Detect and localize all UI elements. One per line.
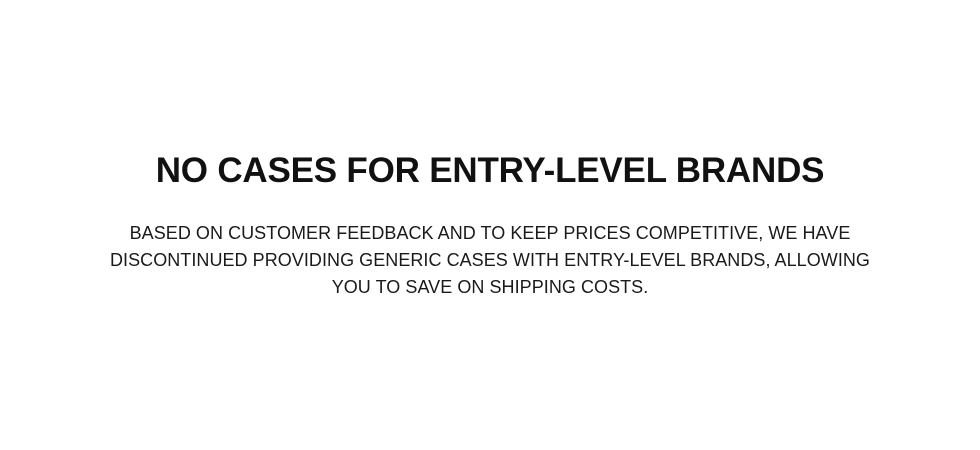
description-line: YOU TO SAVE ON SHIPPING COSTS. [0,274,980,301]
description-line: DISCONTINUED PROVIDING GENERIC CASES WIT… [0,247,980,274]
banner-content: NO CASES FOR ENTRY-LEVEL BRANDS BASED ON… [0,0,980,301]
page-title: NO CASES FOR ENTRY-LEVEL BRANDS [0,150,980,191]
banner-description: BASED ON CUSTOMER FEEDBACK AND TO KEEP P… [0,191,980,301]
promo-banner: NO CASES FOR ENTRY-LEVEL BRANDS BASED ON… [0,0,980,450]
description-line: BASED ON CUSTOMER FEEDBACK AND TO KEEP P… [0,220,980,247]
